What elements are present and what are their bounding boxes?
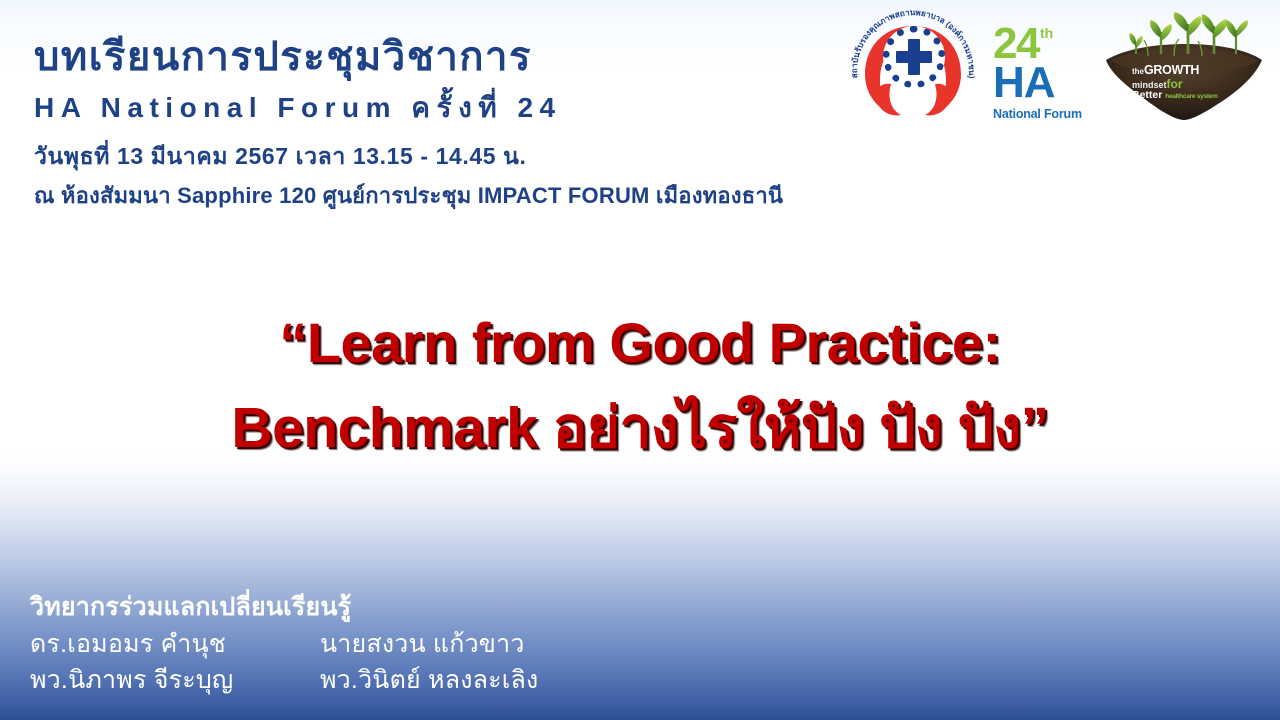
header-title-thai: บทเรียนการประชุมวิชาการ [34, 34, 864, 81]
header-subtitle-forum: HA National Forum ครั้งที่ 24 [34, 89, 864, 127]
growth-soil-illustration [1096, 8, 1274, 130]
speakers-heading: วิทยากรร่วมแลกเปลี่ยนเรียนรู้ [30, 589, 650, 625]
header-venue: ณ ห้องสัมมนา Sapphire 120 ศูนย์การประชุม… [34, 181, 864, 212]
ha-institute-arc-label: สถาบันรับรองคุณภาพสถานพยาบาล (องค์การมหา… [850, 8, 976, 79]
speaker-row: พว.นิภาพร จีระบุญ พว.วินิตย์ หลงละเลิง [30, 663, 650, 699]
ha-institute-logo: สถาบันรับรองคุณภาพสถานพยาบาล (องค์การมหา… [843, 8, 983, 130]
growth-mindset-logo: theGROWTH mindsetfor Better healthcare s… [1096, 8, 1274, 130]
speaker-name: พว.วินิตย์ หลงละเลิง [320, 663, 650, 699]
presentation-slide: บทเรียนการประชุมวิชาการ HA National Foru… [0, 0, 1280, 720]
speaker-row: ดร.เอมอมร คำนุช นายสงวน แก้วขาว [30, 627, 650, 663]
speaker-name: ดร.เอมอมร คำนุช [30, 627, 320, 663]
speaker-name: นายสงวน แก้วขาว [320, 627, 650, 663]
main-title-line-1: “Learn from Good Practice: [0, 300, 1280, 385]
svg-text:สถาบันรับรองคุณภาพสถานพยาบาล (: สถาบันรับรองคุณภาพสถานพยาบาล (องค์การมหา… [850, 8, 976, 79]
ha-institute-arc-text: สถาบันรับรองคุณภาพสถานพยาบาล (องค์การมหา… [843, 8, 983, 130]
forum-ordinal: th [1040, 26, 1053, 40]
24th-ha-forum-logo: 24 th HA National Forum [987, 8, 1092, 130]
header-date-time: วันพุธที่ 13 มีนาคม 2567 เวลา 13.15 - 14… [34, 140, 864, 172]
main-title-line-2: Benchmark อย่างไรให้ปัง ปัง ปัง” [0, 385, 1280, 472]
logo-strip: สถาบันรับรองคุณภาพสถานพยาบาล (องค์การมหา… [843, 8, 1274, 138]
main-title: “Learn from Good Practice: Benchmark อย่… [0, 300, 1280, 472]
speaker-name: พว.นิภาพร จีระบุญ [30, 663, 320, 699]
forum-ha-text: HA [987, 62, 1092, 104]
forum-national-forum-text: National Forum [987, 107, 1092, 121]
speakers-block: วิทยากรร่วมแลกเปลี่ยนเรียนรู้ ดร.เอมอมร … [30, 589, 650, 698]
slide-header: บทเรียนการประชุมวิชาการ HA National Foru… [34, 34, 864, 212]
